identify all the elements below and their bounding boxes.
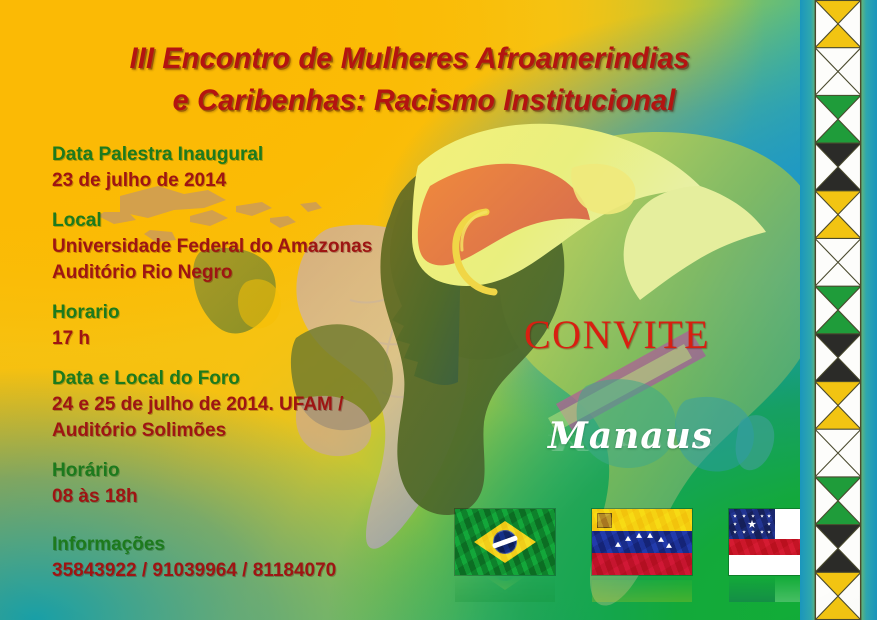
city-name-reflection: Manaus — [548, 429, 713, 455]
detail-group-informacoes: Informações 35843922 / 91039964 / 811840… — [52, 532, 452, 584]
decorative-border-ribbon — [815, 0, 861, 620]
poster-canvas: III Encontro de Mulheres Afroamerindias … — [0, 0, 877, 620]
silk-texture — [592, 509, 692, 575]
venezuela-flag — [592, 509, 692, 575]
detail-value: 24 e 25 de julho de 2014. UFAM / — [52, 392, 452, 418]
detail-label: Horario — [52, 300, 452, 326]
flags-row — [455, 509, 829, 602]
detail-value: Auditório Rio Negro — [52, 260, 452, 286]
detail-group-horario-foro: Horário 08 às 18h — [52, 458, 452, 510]
silk-texture — [455, 509, 555, 575]
poster-title: III Encontro de Mulheres Afroamerindias … — [18, 38, 860, 122]
detail-label: Local — [52, 208, 452, 234]
detail-label: Horário — [52, 458, 452, 484]
brazil-flag-reflection — [455, 576, 555, 602]
detail-value: 23 de julho de 2014 — [52, 168, 452, 194]
detail-value: 08 às 18h — [52, 484, 452, 510]
detail-label: Data Palestra Inaugural — [52, 142, 452, 168]
convite-heading: CONVITE — [524, 313, 710, 357]
flag-cell-brazil — [455, 509, 555, 602]
detail-label: Informações — [52, 532, 452, 558]
contact-phone-numbers: 35843922 / 91039964 / 81184070 — [52, 558, 452, 584]
title-line-2: e Caribenhas: Racismo Institucional — [18, 80, 860, 122]
detail-value: 17 h — [52, 326, 452, 352]
detail-group-local: Local Universidade Federal do Amazonas A… — [52, 208, 452, 286]
detail-label: Data e Local do Foro — [52, 366, 452, 392]
venezuela-flag-reflection — [592, 576, 692, 602]
detail-group-data-foro: Data e Local do Foro 24 e 25 de julho de… — [52, 366, 452, 444]
title-line-1: III Encontro de Mulheres Afroamerindias — [18, 38, 860, 80]
brazil-flag — [455, 509, 555, 575]
flag-cell-venezuela — [592, 509, 692, 602]
city-name-block: Manaus Manaus — [548, 415, 713, 497]
detail-group-horario-palestra: Horario 17 h — [52, 300, 452, 352]
detail-value: Auditório Solimões — [52, 418, 452, 444]
event-details: Data Palestra Inaugural 23 de julho de 2… — [52, 142, 452, 598]
detail-group-data-palestra: Data Palestra Inaugural 23 de julho de 2… — [52, 142, 452, 194]
detail-value: Universidade Federal do Amazonas — [52, 234, 452, 260]
